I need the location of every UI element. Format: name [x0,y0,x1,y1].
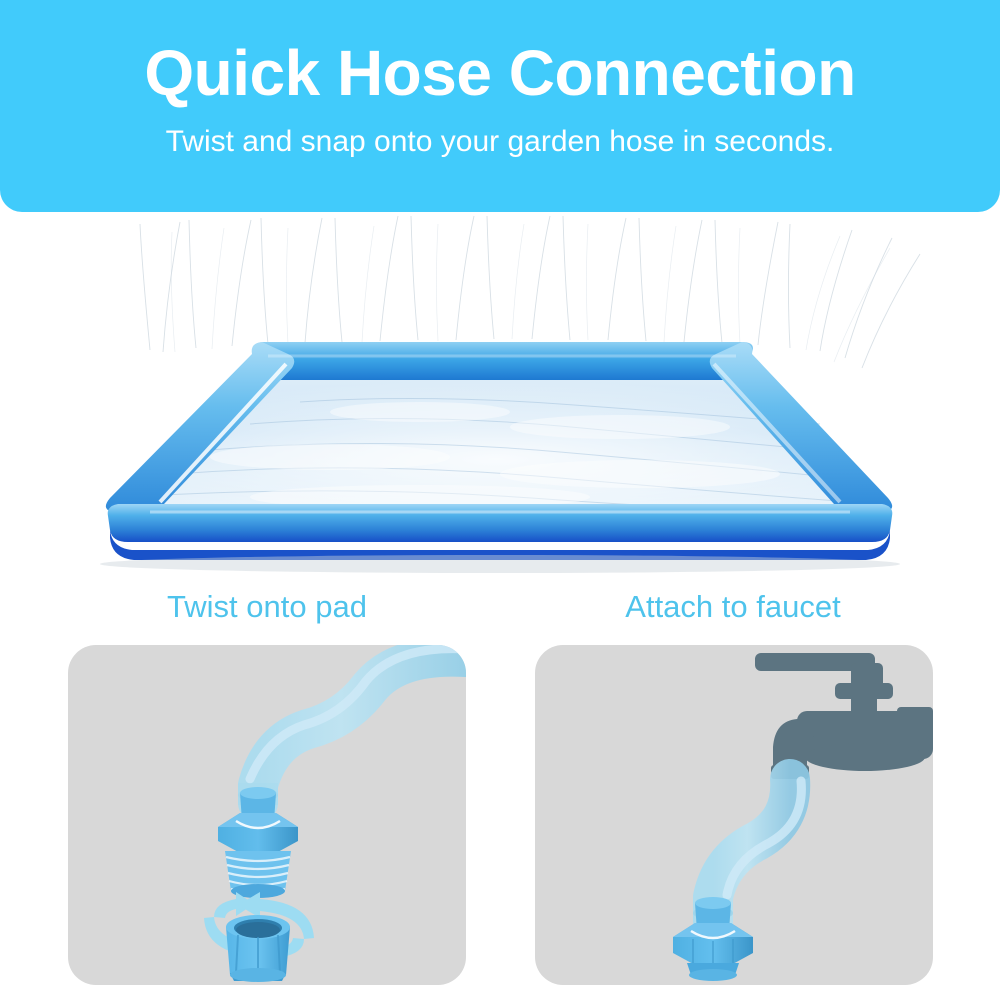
page-subtitle: Twist and snap onto your garden hose in … [0,122,1000,162]
page-title: Quick Hose Connection [0,34,1000,112]
step-label-attach-to-faucet: Attach to faucet [523,585,943,629]
hex-nut-connector-icon [218,787,298,898]
pad-inlet-socket-icon [226,912,290,982]
attach-to-faucet-illustration [535,645,933,985]
step-panel-twist-onto-pad [68,645,466,985]
splash-pad-illustration [0,212,1000,577]
hose-icon [238,649,466,805]
step-label-twist-onto-pad: Twist onto pad [57,585,477,629]
step-panel-attach-to-faucet [535,645,933,985]
faucet-icon [755,653,933,779]
step-labels: Twist onto pad Attach to faucet [0,585,1000,633]
twist-onto-pad-illustration [68,645,466,985]
infographic-page: Quick Hose Connection Twist and snap ont… [0,0,1000,1000]
header-banner: Quick Hose Connection Twist and snap ont… [0,0,1000,212]
hero-product-image [0,212,1000,577]
hex-nut-connector-icon [673,897,753,981]
